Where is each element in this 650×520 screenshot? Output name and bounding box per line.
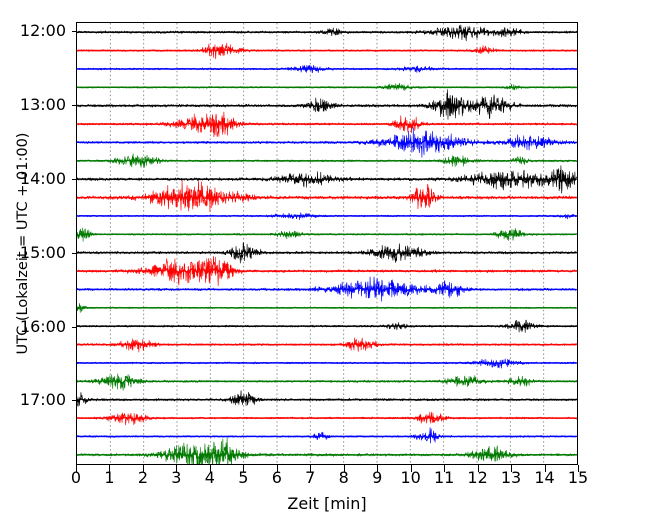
x-tick-label: 15 — [558, 470, 598, 486]
waveform-baseline — [77, 68, 577, 70]
y-tick-label: 13:00 — [0, 97, 66, 113]
waveform-trace — [77, 428, 577, 443]
y-tick-label: 14:00 — [0, 171, 66, 187]
waveform-baseline — [77, 87, 577, 88]
y-tick-label: 12:00 — [0, 23, 66, 39]
waveform-baseline — [77, 343, 577, 346]
waveform-baseline — [77, 250, 577, 254]
x-axis-label: Zeit [min] — [76, 494, 578, 513]
waveform-baseline — [77, 140, 577, 145]
waveform-trace — [77, 438, 577, 464]
y-tick-label: 17:00 — [0, 392, 66, 408]
waveform-baseline — [77, 49, 577, 52]
waveform-baseline — [77, 121, 577, 126]
waveform-traces — [77, 23, 577, 464]
plot-area[interactable] — [76, 22, 578, 465]
waveform-trace — [77, 391, 577, 407]
seismogram-figure: UTC (Lokalzeit = UTC + 01:00) 12:0013:00… — [0, 0, 650, 520]
waveform-baseline — [77, 215, 577, 216]
y-tick-label: 16:00 — [0, 319, 66, 335]
y-tick-label: 15:00 — [0, 245, 66, 261]
waveform-baseline — [77, 307, 577, 308]
waveform-baseline — [77, 398, 577, 401]
